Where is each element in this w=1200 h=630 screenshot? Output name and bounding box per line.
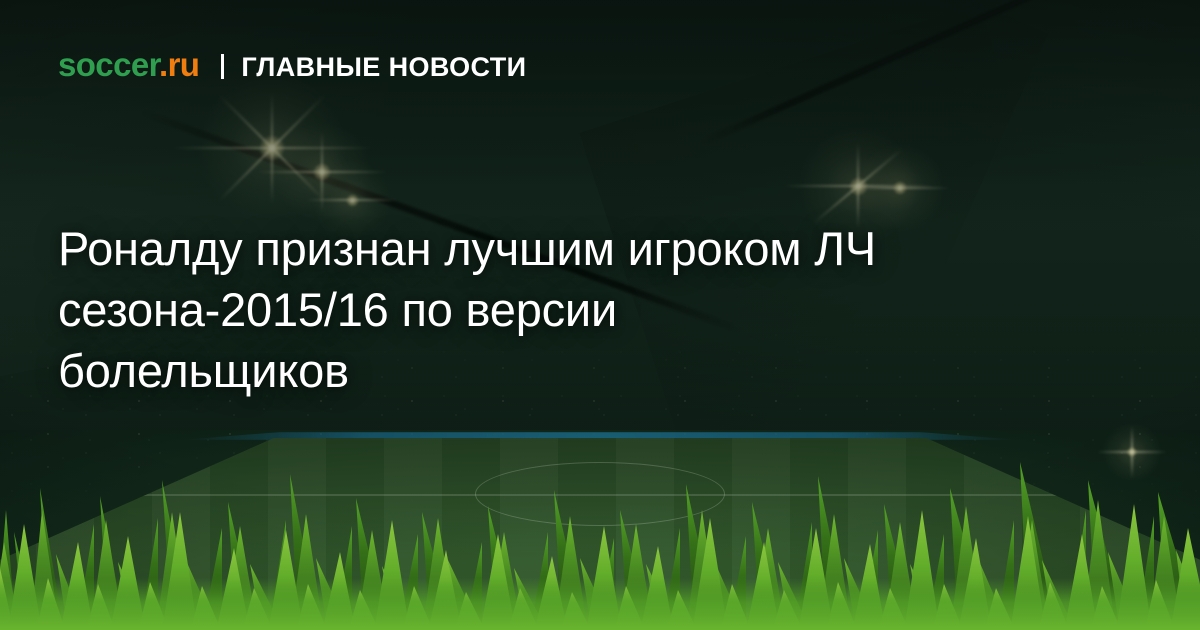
- headline-line: сезона-2015/16 по версии: [58, 279, 1148, 340]
- site-header: soccer.ru ГЛАВНЫЕ НОВОСТИ: [0, 0, 1200, 81]
- header-separator: [221, 54, 224, 79]
- foreground-grass: [0, 392, 1200, 630]
- header-section-label: ГЛАВНЫЕ НОВОСТИ: [241, 54, 526, 81]
- site-logo[interactable]: soccer.ru: [58, 48, 199, 81]
- page-title: Роналду признан лучшим игроком ЛЧ сезона…: [58, 218, 1148, 401]
- logo-text-tld: .ru: [159, 46, 199, 83]
- logo-text-primary: soccer: [58, 46, 159, 83]
- headline-line: болельщиков: [58, 340, 1148, 401]
- headline-line: Роналду признан лучшим игроком ЛЧ: [58, 218, 1148, 279]
- share-card: soccer.ru ГЛАВНЫЕ НОВОСТИ Роналду призна…: [0, 0, 1200, 630]
